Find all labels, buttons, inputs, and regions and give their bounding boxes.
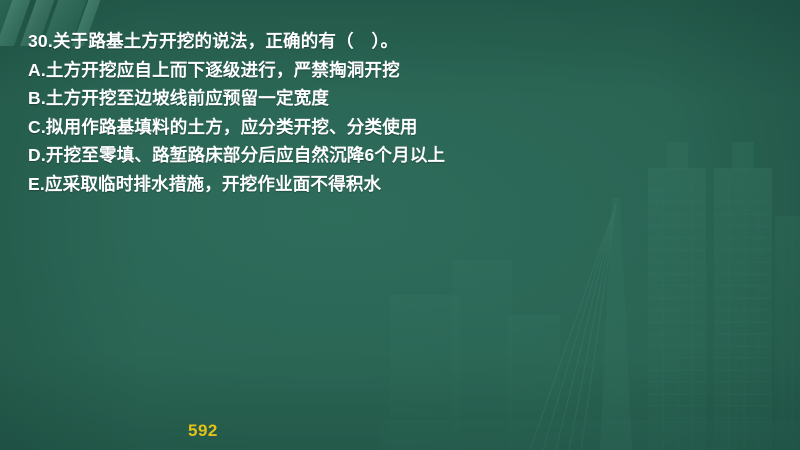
option-e[interactable]: E.应采取临时排水措施，开挖作业面不得积水 <box>28 170 780 199</box>
option-b[interactable]: B.土方开挖至边坡线前应预留一定宽度 <box>28 84 780 113</box>
option-c[interactable]: C.拟用作路基填料的土方，应分类开挖、分类使用 <box>28 113 780 142</box>
question-block: 30.关于路基土方开挖的说法，正确的有（ ）。 A.土方开挖应自上而下逐级进行，… <box>28 27 780 198</box>
page-number: 592 <box>188 421 218 441</box>
question-stem: 30.关于路基土方开挖的说法，正确的有（ ）。 <box>28 27 780 56</box>
option-d[interactable]: D.开挖至零填、路堑路床部分后应自然沉降6个月以上 <box>28 141 780 170</box>
slide-canvas: 30.关于路基土方开挖的说法，正确的有（ ）。 A.土方开挖应自上而下逐级进行，… <box>0 0 800 450</box>
option-a[interactable]: A.土方开挖应自上而下逐级进行，严禁掏洞开挖 <box>28 56 780 85</box>
